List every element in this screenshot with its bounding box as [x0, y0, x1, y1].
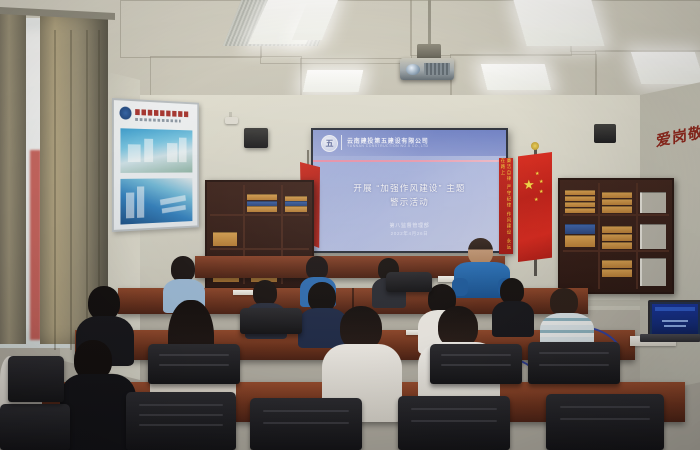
poster-logo-icon [120, 106, 132, 119]
laptop-keyboard-base[interactable] [640, 334, 700, 342]
chair[interactable] [398, 396, 510, 450]
chair[interactable] [8, 356, 64, 402]
laptop-screen [652, 304, 698, 336]
ceiling-light [303, 70, 364, 92]
wall-banner: 廉洁自律 严守纪律 作风建设 永远在路上 [499, 158, 513, 254]
flag-star-small: ★ [535, 172, 539, 177]
chair[interactable] [528, 342, 620, 384]
flag-star-small: ★ [539, 180, 543, 185]
meeting-room-photo: 五 云南建投第五建设有限公司 YUNNAN CONSTRUCTION NO.5 … [0, 0, 700, 450]
document-stack [602, 206, 632, 213]
china-national-flag: ★ ★ ★ ★ ★ [518, 152, 552, 262]
poster-subtitle-text [135, 118, 181, 123]
chair[interactable] [0, 404, 70, 450]
document-stack [565, 208, 595, 213]
curtain-left [0, 14, 26, 344]
projector-mount-rod [428, 0, 431, 46]
ceiling-light [513, 0, 604, 46]
document-stack [565, 190, 595, 195]
projector-vent [424, 63, 450, 75]
chair[interactable] [240, 308, 302, 334]
poster-photo-bottom [120, 178, 192, 225]
chair[interactable] [430, 344, 522, 384]
binder-row [640, 224, 666, 249]
document-stack [602, 234, 632, 241]
document-stack [602, 226, 632, 233]
document-stack [602, 269, 632, 277]
chair[interactable] [126, 392, 236, 450]
laptop-titlebar [655, 307, 695, 311]
chair[interactable] [386, 272, 432, 292]
ceiling-light [631, 52, 700, 84]
banner-text: 廉洁自律 严守纪律 作风建设 永远在路上 [500, 158, 512, 254]
presenter-head [468, 238, 493, 265]
surveillance-camera-icon [225, 117, 238, 124]
document-stack [565, 235, 595, 247]
bookshelf-right [558, 178, 674, 294]
document-stack [602, 260, 632, 268]
poster-photo-top [120, 128, 192, 173]
poster-title-text [135, 109, 189, 117]
document-stack [602, 192, 632, 198]
document-stack [247, 206, 277, 212]
projection-screen: 五 云南建投第五建设有限公司 YUNNAN CONSTRUCTION NO.5 … [313, 130, 506, 251]
document-stack [213, 232, 237, 246]
company-poster-board [112, 98, 199, 232]
document-stack [565, 196, 595, 201]
paper-stack [233, 290, 253, 295]
chair[interactable] [250, 398, 362, 450]
binder-row [640, 258, 666, 286]
document-stack [602, 242, 632, 249]
ceiling-light [481, 64, 551, 90]
laptop-text-line [664, 325, 686, 327]
document-stack [602, 199, 632, 205]
wall-speaker-left [244, 128, 268, 148]
laptop-text-line [662, 320, 688, 322]
projection-screen-frame: 五 云南建投第五建设有限公司 YUNNAN CONSTRUCTION NO.5 … [311, 128, 508, 253]
projector-lens-icon [406, 64, 420, 75]
chair[interactable] [546, 394, 664, 450]
document-stack [285, 206, 307, 212]
flag-star-small: ★ [534, 198, 538, 203]
document-stack [247, 194, 277, 200]
document-stack [565, 202, 595, 207]
flag-star-small: ★ [539, 190, 543, 195]
document-stack [565, 224, 595, 234]
chair[interactable] [148, 344, 240, 384]
flag-pole-finial [531, 142, 539, 150]
flag-star-large: ★ [523, 178, 535, 191]
wall-speaker-right [594, 124, 616, 143]
screen-glare [313, 130, 506, 251]
binder-row [640, 192, 666, 213]
